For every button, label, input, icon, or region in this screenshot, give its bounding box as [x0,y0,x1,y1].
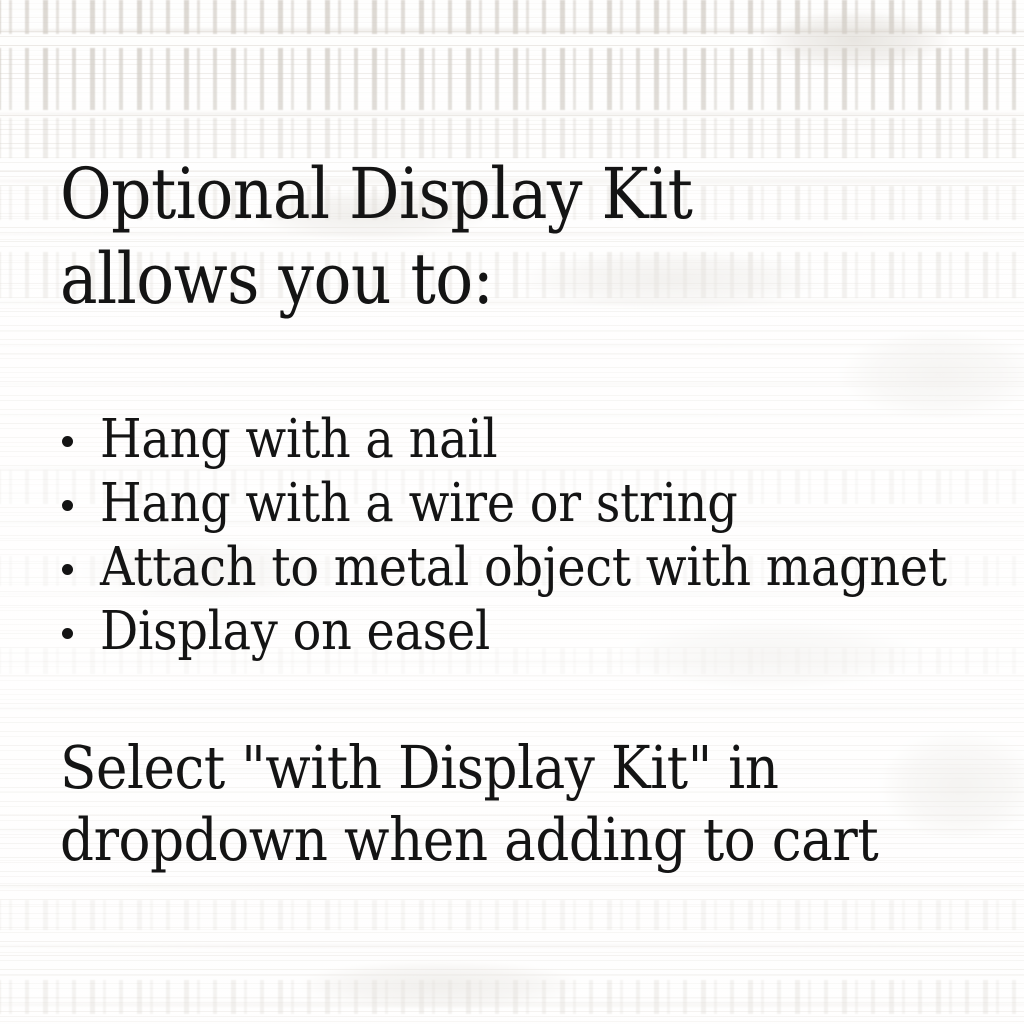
list-item: Attach to metal object with magnet [60,536,1010,600]
bullet-dot-icon [62,564,73,575]
list-item: Display on easel [60,600,1010,664]
product-info-graphic: Optional Display Kit allows you to: Hang… [0,0,1024,1024]
list-item: Hang with a wire or string [60,472,1010,536]
list-item-label: Hang with a nail [100,409,497,470]
page-title-line-1: Optional Display Kit [60,152,960,237]
feature-bullet-list: Hang with a nail Hang with a wire or str… [60,408,1010,664]
list-item-label: Display on easel [100,601,490,662]
purchase-instruction-line-2: dropdown when adding to cart [60,804,1000,876]
list-item-label: Attach to metal object with magnet [100,537,947,598]
page-title: Optional Display Kit allows you to: [60,152,960,322]
bullet-dot-icon [62,628,73,639]
graphic-content: Optional Display Kit allows you to: Hang… [0,0,1024,1024]
list-item-label: Hang with a wire or string [100,473,738,534]
list-item: Hang with a nail [60,408,1010,472]
page-title-line-2: allows you to: [60,237,960,322]
bullet-dot-icon [62,436,73,447]
bullet-dot-icon [62,500,73,511]
purchase-instruction-line-1: Select "with Display Kit" in [60,732,1000,804]
purchase-instruction-note: Select "with Display Kit" in dropdown wh… [60,732,1000,876]
